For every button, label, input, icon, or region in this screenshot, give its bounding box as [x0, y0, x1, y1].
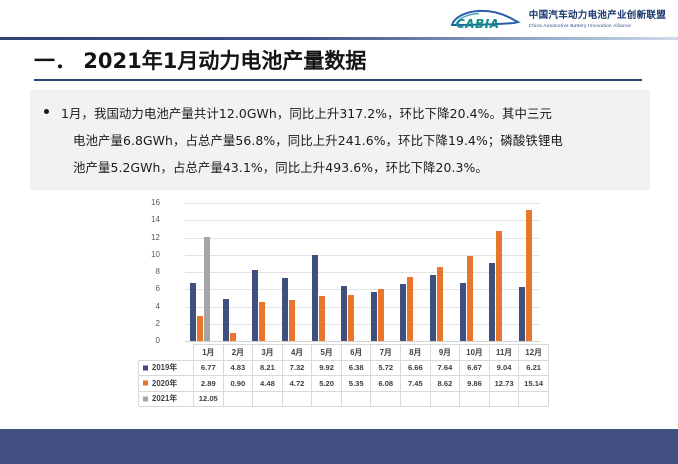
bar-2019年-1月 — [190, 283, 196, 341]
table-body: 2019年6.774.838.217.329.926.385.726.667.6… — [139, 360, 549, 407]
y-axis-tick-label: 2 — [156, 320, 160, 328]
bar-2020年-11月 — [496, 231, 502, 341]
bar-group — [481, 203, 511, 341]
bullet-icon — [44, 109, 49, 114]
table-cell-empty — [282, 391, 312, 407]
bar-group — [451, 203, 481, 341]
table-corner-cell — [139, 345, 194, 361]
table-cell-value: 6.38 — [341, 360, 371, 376]
table-cell-empty — [253, 391, 283, 407]
y-axis-tick-label: 14 — [151, 216, 160, 224]
table-cell-value: 9.04 — [489, 360, 519, 376]
table-cell-value: 0.90 — [223, 376, 253, 392]
slide: CABIA 中国汽车动力电池产业创新联盟 China Automotive Ba… — [0, 0, 678, 464]
bar-group — [422, 203, 452, 341]
y-axis-tick-label: 8 — [156, 268, 160, 276]
summary-line-3: 池产量5.2GWh，占总产量43.1%，同比上升493.6%，环比下降20.3%… — [61, 154, 644, 181]
bar-2019年-7月 — [371, 292, 377, 341]
table-cell-empty — [401, 391, 431, 407]
table-cell-empty — [460, 391, 490, 407]
table-col-header-10月: 10月 — [460, 345, 490, 361]
bar-2020年-5月 — [319, 296, 325, 341]
table-cell-value: 8.21 — [253, 360, 283, 376]
table-cell-value: 7.64 — [430, 360, 460, 376]
bar-2019年-11月 — [489, 263, 495, 341]
bar-2019年-2月 — [223, 299, 229, 341]
bar-group — [244, 203, 274, 341]
bar-2019年-8月 — [400, 284, 406, 341]
brand-text: 中国汽车动力电池产业创新联盟 China Automotive Battery … — [529, 10, 666, 30]
bar-2020年-4月 — [289, 300, 295, 341]
table-col-header-4月: 4月 — [282, 345, 312, 361]
y-axis-tick-label: 10 — [151, 251, 160, 259]
table-cell-value: 8.62 — [430, 376, 460, 392]
bar-2021年-1月 — [204, 237, 210, 341]
bar-2019年-12月 — [519, 287, 525, 341]
table-col-header-1月: 1月 — [194, 345, 224, 361]
table-col-header-6月: 6月 — [341, 345, 371, 361]
bar-2020年-1月 — [197, 316, 203, 341]
bar-group — [363, 203, 393, 341]
summary-line-2: 电池产量6.8GWh，占总产量56.8%，同比上升241.6%，环比下降19.4… — [61, 127, 644, 154]
table-cell-value: 4.48 — [253, 376, 283, 392]
title-underline — [34, 79, 642, 81]
table-cell-empty — [489, 391, 519, 407]
cabia-logo-icon: CABIA — [448, 6, 522, 34]
bar-group — [333, 203, 363, 341]
production-bar-chart: 0246810121416 — [138, 196, 548, 356]
table-cell-value: 6.77 — [194, 360, 224, 376]
table-cell-value: 5.20 — [312, 376, 342, 392]
table-cell-value: 2.89 — [194, 376, 224, 392]
page-title: 一． 2021年1月动力电池产量数据 — [34, 48, 644, 74]
bar-2019年-3月 — [252, 270, 258, 341]
bar-2020年-7月 — [378, 289, 384, 341]
summary-line-1: 1月，我国动力电池产量共计12.0GWh，同比上升317.2%，环比下降20.4… — [61, 100, 644, 127]
table-col-header-3月: 3月 — [253, 345, 283, 361]
bar-group — [392, 203, 422, 341]
table-row: 2021年12.05 — [139, 391, 549, 407]
table-cell-value: 6.08 — [371, 376, 401, 392]
bar-2019年-10月 — [460, 283, 466, 341]
bar-2020年-2月 — [230, 333, 236, 341]
table-cell-value: 6.66 — [401, 360, 431, 376]
table-cell-value: 7.32 — [282, 360, 312, 376]
table-cell-empty — [223, 391, 253, 407]
bar-group — [215, 203, 245, 341]
org-name-cn: 中国汽车动力电池产业创新联盟 — [529, 10, 666, 22]
table-head: 1月2月3月4月5月6月7月8月9月10月11月12月 — [139, 345, 549, 361]
chart-baseline — [185, 341, 540, 342]
table-cell-value: 9.92 — [312, 360, 342, 376]
table-cell-value: 6.21 — [519, 360, 549, 376]
table-cell-empty — [430, 391, 460, 407]
slide-footer-bar — [0, 429, 678, 464]
table-cell-empty — [312, 391, 342, 407]
legend-swatch-icon — [143, 365, 148, 370]
table-cell-value: 12.05 — [194, 391, 224, 407]
legend-item-2020年[interactable]: 2020年 — [139, 376, 194, 392]
table-header-row: 1月2月3月4月5月6月7月8月9月10月11月12月 — [139, 345, 549, 361]
summary-panel: 1月，我国动力电池产量共计12.0GWh，同比上升317.2%，环比下降20.4… — [30, 90, 650, 190]
table-cell-value: 7.45 — [401, 376, 431, 392]
org-name-en: China Automotive Battery Innovation Alli… — [529, 22, 666, 30]
bar-2019年-4月 — [282, 278, 288, 341]
table-col-header-7月: 7月 — [371, 345, 401, 361]
bar-2020年-10月 — [467, 256, 473, 341]
summary-bullet-row: 1月，我国动力电池产量共计12.0GWh，同比上升317.2%，环比下降20.4… — [44, 100, 644, 181]
chart-data-table: 1月2月3月4月5月6月7月8月9月10月11月12月 2019年6.774.8… — [138, 344, 549, 407]
table-cell-value: 4.72 — [282, 376, 312, 392]
brand-logo: CABIA 中国汽车动力电池产业创新联盟 China Automotive Ba… — [448, 6, 666, 34]
bar-2019年-6月 — [341, 286, 347, 341]
bar-2020年-6月 — [348, 295, 354, 341]
table-col-header-5月: 5月 — [312, 345, 342, 361]
table-col-header-11月: 11月 — [489, 345, 519, 361]
table-cell-empty — [519, 391, 549, 407]
bar-group — [510, 203, 540, 341]
table-cell-empty — [371, 391, 401, 407]
table-cell-value: 5.35 — [341, 376, 371, 392]
bar-2019年-9月 — [430, 275, 436, 341]
bar-2020年-3月 — [259, 302, 265, 341]
table-cell-value: 5.72 — [371, 360, 401, 376]
page-title-block: 一． 2021年1月动力电池产量数据 — [34, 48, 644, 82]
bar-group — [185, 203, 215, 341]
table-cell-value: 12.73 — [489, 376, 519, 392]
chart-plot-area — [185, 203, 540, 341]
y-axis-tick-label: 4 — [156, 303, 160, 311]
chart-data-table-wrap: 1月2月3月4月5月6月7月8月9月10月11月12月 2019年6.774.8… — [138, 344, 548, 407]
y-axis-tick-label: 12 — [151, 234, 160, 242]
slide-header: CABIA 中国汽车动力电池产业创新联盟 China Automotive Ba… — [0, 0, 678, 42]
table-col-header-2月: 2月 — [223, 345, 253, 361]
table-col-header-8月: 8月 — [401, 345, 431, 361]
bar-2020年-9月 — [437, 267, 443, 341]
table-cell-value: 4.83 — [223, 360, 253, 376]
y-axis-tick-label: 16 — [151, 199, 160, 207]
table-cell-value: 9.86 — [460, 376, 490, 392]
summary-paragraph: 1月，我国动力电池产量共计12.0GWh，同比上升317.2%，环比下降20.4… — [61, 100, 644, 181]
table-cell-empty — [341, 391, 371, 407]
table-row: 2020年2.890.904.484.725.205.356.087.458.6… — [139, 376, 549, 392]
y-axis-tick-label: 6 — [156, 285, 160, 293]
bar-2019年-5月 — [312, 255, 318, 341]
chart-y-axis: 0246810121416 — [138, 196, 164, 342]
bar-2020年-12月 — [526, 210, 532, 341]
bar-group — [274, 203, 304, 341]
header-divider — [0, 37, 678, 40]
legend-item-2021年[interactable]: 2021年 — [139, 391, 194, 407]
svg-text:CABIA: CABIA — [456, 17, 500, 31]
legend-label: 2019年 — [152, 363, 177, 372]
table-row: 2019年6.774.838.217.329.926.385.726.667.6… — [139, 360, 549, 376]
legend-label: 2020年 — [152, 379, 177, 388]
bar-2020年-8月 — [407, 277, 413, 341]
legend-swatch-icon — [143, 396, 148, 401]
legend-label: 2021年 — [152, 394, 177, 403]
bar-group — [303, 203, 333, 341]
legend-item-2019年[interactable]: 2019年 — [139, 360, 194, 376]
table-col-header-9月: 9月 — [430, 345, 460, 361]
table-col-header-12月: 12月 — [519, 345, 549, 361]
table-cell-value: 15.14 — [519, 376, 549, 392]
table-cell-value: 6.67 — [460, 360, 490, 376]
legend-swatch-icon — [143, 381, 148, 386]
